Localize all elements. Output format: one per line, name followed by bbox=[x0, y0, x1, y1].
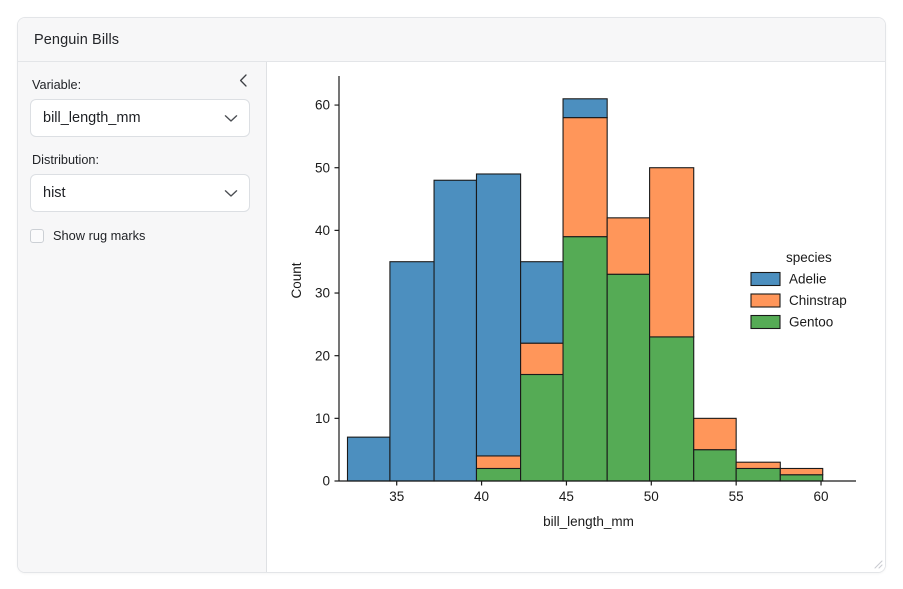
svg-text:45: 45 bbox=[559, 489, 574, 504]
histogram-bar bbox=[607, 274, 649, 481]
chevron-left-icon bbox=[237, 73, 250, 93]
svg-text:bill_length_mm: bill_length_mm bbox=[543, 514, 634, 529]
app-window: Penguin Bills Variable: bill_length_mm bbox=[17, 17, 886, 573]
histogram-bar bbox=[563, 99, 607, 118]
histogram-plot: 0102030405060354045505560bill_length_mmC… bbox=[267, 62, 886, 573]
sidebar: Variable: bill_length_mm Distribution: h… bbox=[18, 62, 267, 572]
page-title: Penguin Bills bbox=[34, 32, 119, 48]
histogram-bar bbox=[780, 468, 822, 474]
histogram-bar bbox=[650, 168, 694, 337]
histogram-bar bbox=[521, 343, 563, 374]
variable-label: Variable: bbox=[32, 78, 250, 92]
svg-text:40: 40 bbox=[474, 489, 489, 504]
histogram-bar bbox=[476, 456, 520, 469]
histogram-bar bbox=[563, 118, 607, 237]
histogram-bar bbox=[347, 437, 389, 481]
histogram-bar bbox=[563, 237, 607, 481]
svg-text:50: 50 bbox=[644, 489, 659, 504]
svg-text:Count: Count bbox=[289, 262, 304, 298]
histogram-bar bbox=[607, 218, 649, 274]
histogram-bar bbox=[476, 468, 520, 481]
svg-text:40: 40 bbox=[315, 223, 330, 238]
distribution-label: Distribution: bbox=[32, 153, 250, 167]
svg-text:0: 0 bbox=[322, 474, 330, 489]
svg-text:30: 30 bbox=[315, 286, 330, 301]
svg-text:55: 55 bbox=[729, 489, 744, 504]
variable-select-value: bill_length_mm bbox=[43, 110, 141, 126]
svg-text:10: 10 bbox=[315, 411, 330, 426]
show-rug-marks-row[interactable]: Show rug marks bbox=[30, 228, 250, 243]
svg-text:60: 60 bbox=[814, 489, 829, 504]
sidebar-collapse-button[interactable] bbox=[232, 72, 254, 94]
svg-text:Adelie: Adelie bbox=[789, 272, 827, 287]
show-rug-marks-checkbox[interactable] bbox=[30, 229, 44, 243]
distribution-select[interactable]: hist bbox=[30, 174, 250, 212]
svg-text:60: 60 bbox=[315, 98, 330, 113]
histogram-bar bbox=[521, 262, 563, 343]
histogram-bar bbox=[521, 374, 563, 481]
legend-swatch bbox=[751, 316, 780, 329]
histogram-bar bbox=[780, 475, 822, 481]
histogram-bar bbox=[736, 462, 780, 468]
svg-text:20: 20 bbox=[315, 348, 330, 363]
histogram-bar bbox=[434, 180, 476, 481]
histogram-bar bbox=[694, 418, 736, 449]
svg-text:Chinstrap: Chinstrap bbox=[789, 293, 847, 308]
svg-text:50: 50 bbox=[315, 160, 330, 175]
variable-select[interactable]: bill_length_mm bbox=[30, 99, 250, 137]
window-header: Penguin Bills bbox=[18, 18, 885, 62]
show-rug-marks-label: Show rug marks bbox=[53, 228, 145, 243]
plot-pane: 0102030405060354045505560bill_length_mmC… bbox=[267, 62, 886, 572]
distribution-select-value: hist bbox=[43, 185, 66, 201]
resize-grip[interactable] bbox=[872, 558, 883, 569]
legend-swatch bbox=[751, 294, 780, 307]
histogram-bar bbox=[650, 337, 694, 481]
histogram-bar bbox=[736, 468, 780, 481]
svg-text:35: 35 bbox=[389, 489, 404, 504]
chevron-down-icon bbox=[224, 114, 238, 123]
histogram-bar bbox=[694, 450, 736, 481]
svg-text:species: species bbox=[786, 250, 832, 265]
histogram-bar bbox=[476, 174, 520, 456]
legend-swatch bbox=[751, 273, 780, 286]
chevron-down-icon bbox=[224, 189, 238, 198]
histogram-bar bbox=[390, 262, 434, 481]
svg-text:Gentoo: Gentoo bbox=[789, 315, 833, 330]
window-body: Variable: bill_length_mm Distribution: h… bbox=[18, 62, 885, 572]
